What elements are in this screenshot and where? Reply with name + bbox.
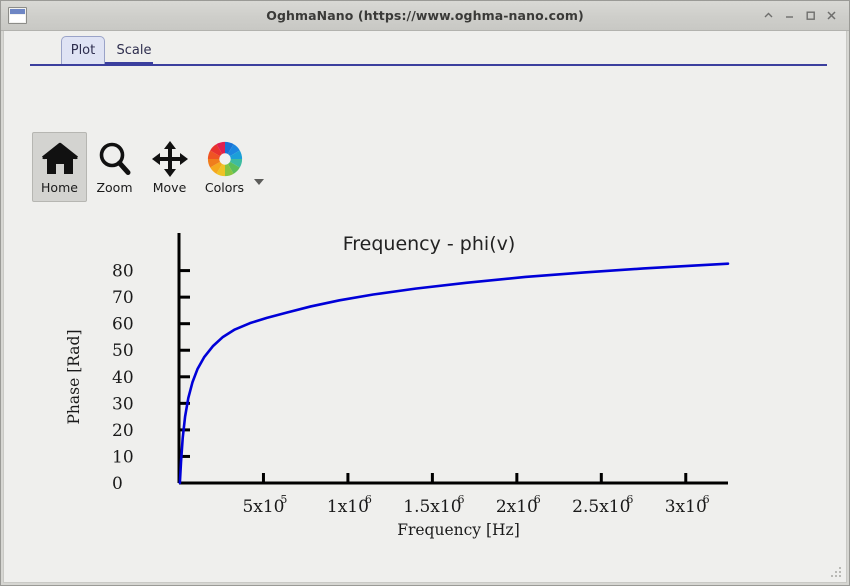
svg-text:80: 80 xyxy=(112,262,134,282)
svg-text:6: 6 xyxy=(534,493,541,506)
x-tick-label: 2x106 xyxy=(496,493,541,517)
maximize-button[interactable] xyxy=(801,6,820,25)
svg-text:30: 30 xyxy=(112,394,134,414)
colors-button[interactable]: Colors xyxy=(197,132,252,202)
move-arrows-icon xyxy=(151,139,189,179)
window-icon xyxy=(8,7,27,24)
svg-text:10: 10 xyxy=(112,447,134,467)
colors-button-label: Colors xyxy=(205,181,244,195)
svg-text:20: 20 xyxy=(112,421,134,441)
svg-text:70: 70 xyxy=(112,288,134,308)
window-controls xyxy=(759,6,849,25)
svg-text:2.5x10: 2.5x10 xyxy=(572,497,630,517)
svg-text:5x10: 5x10 xyxy=(242,497,284,517)
svg-text:0: 0 xyxy=(112,474,123,494)
resize-grip[interactable] xyxy=(830,566,843,579)
frequency-phase-chart: 01020304050607080Phase [Rad]5x1051x1061.… xyxy=(4,202,847,542)
shade-button[interactable] xyxy=(759,6,778,25)
tab-scale-label: Scale xyxy=(117,43,152,58)
y-axis-label: Phase [Rad] xyxy=(65,330,83,425)
svg-text:3x10: 3x10 xyxy=(665,497,707,517)
home-button[interactable]: Home xyxy=(32,132,87,202)
plot-canvas[interactable]: 01020304050607080Phase [Rad]5x1051x1061.… xyxy=(4,202,846,542)
tab-plot-label: Plot xyxy=(71,43,96,58)
x-axis-label: Frequency [Hz] xyxy=(397,521,520,539)
svg-text:6: 6 xyxy=(703,493,710,506)
window-title: OghmaNano (https://www.oghma-nano.com) xyxy=(1,8,849,23)
svg-text:6: 6 xyxy=(365,493,372,506)
svg-text:1.5x10: 1.5x10 xyxy=(403,497,461,517)
x-tick-label: 5x105 xyxy=(242,493,287,517)
move-button[interactable]: Move xyxy=(142,132,197,202)
x-tick-label: 2.5x106 xyxy=(572,493,633,517)
tab-separator-rule xyxy=(30,64,827,66)
svg-text:40: 40 xyxy=(112,368,134,388)
series-line xyxy=(180,264,728,483)
x-tick-label: 1.5x106 xyxy=(403,493,464,517)
tab-scale[interactable]: Scale xyxy=(109,36,159,64)
tab-plot[interactable]: Plot xyxy=(61,36,105,64)
tab-bar: Plot Scale xyxy=(4,31,846,64)
chart-axes xyxy=(179,233,728,483)
client-area: Plot Scale Home xyxy=(3,31,847,583)
svg-text:1x10: 1x10 xyxy=(327,497,369,517)
close-button[interactable] xyxy=(822,6,841,25)
x-tick-label: 1x106 xyxy=(327,493,372,517)
home-button-label: Home xyxy=(41,181,78,195)
chevron-down-icon[interactable] xyxy=(254,179,264,185)
zoom-button[interactable]: Zoom xyxy=(87,132,142,202)
svg-text:6: 6 xyxy=(626,493,633,506)
application-window: OghmaNano (https://www.oghma-nano.com) P… xyxy=(0,0,850,586)
chart-title: Frequency - phi(v) xyxy=(343,233,516,255)
svg-text:6: 6 xyxy=(457,493,464,506)
x-tick-label: 3x106 xyxy=(665,493,710,517)
minimize-button[interactable] xyxy=(780,6,799,25)
plot-toolbar: Home Zoom Move xyxy=(32,132,264,202)
color-wheel-icon xyxy=(206,139,244,179)
zoom-button-label: Zoom xyxy=(96,181,132,195)
svg-text:5: 5 xyxy=(280,493,287,506)
svg-text:60: 60 xyxy=(112,315,134,335)
svg-text:50: 50 xyxy=(112,341,134,361)
title-bar[interactable]: OghmaNano (https://www.oghma-nano.com) xyxy=(1,1,849,31)
home-icon xyxy=(41,139,79,179)
svg-text:2x10: 2x10 xyxy=(496,497,538,517)
magnifier-icon xyxy=(96,139,134,179)
move-button-label: Move xyxy=(153,181,187,195)
x-axis-ticks: 5x1051x1061.5x1062x1062.5x1063x106 xyxy=(242,473,709,517)
